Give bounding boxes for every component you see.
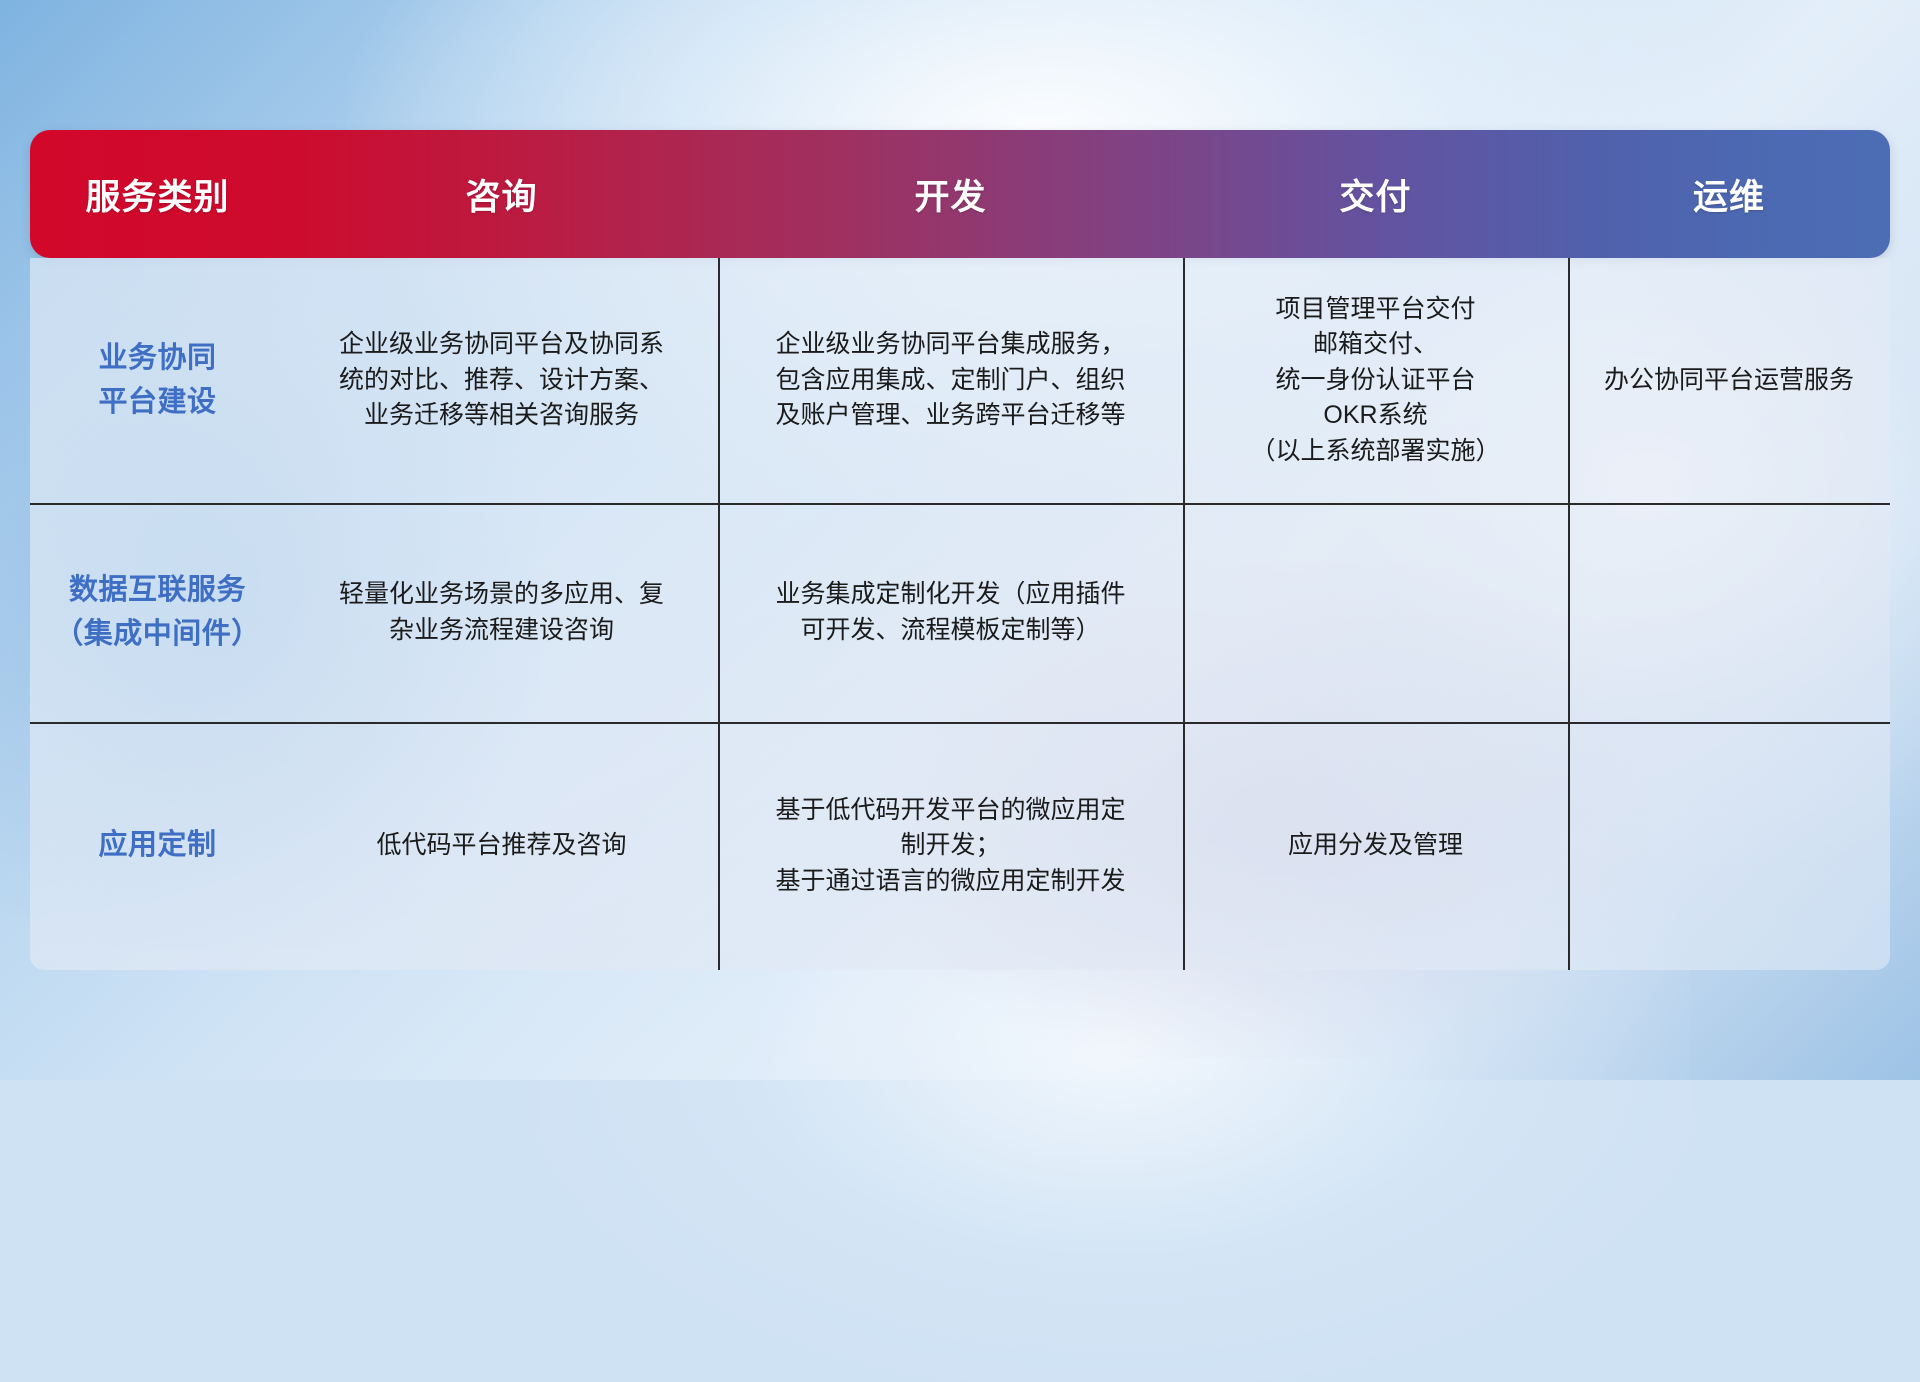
table-row: 数据互联服务 （集成中间件） 轻量化业务场景的多应用、复 杂业务流程建设咨询 业… xyxy=(30,503,1890,722)
cell-consulting: 企业级业务协同平台及协同系 统的对比、推荐、设计方案、 业务迁移等相关咨询服务 xyxy=(285,258,718,503)
service-matrix-table: 服务类别 咨询 开发 交付 运维 业务协同 平台建设 企业级业务协同平台及协同系… xyxy=(30,130,1890,970)
column-divider xyxy=(718,722,720,970)
column-header-consulting: 咨询 xyxy=(285,169,718,220)
column-divider xyxy=(1183,258,1185,503)
column-divider xyxy=(1183,722,1185,970)
column-divider xyxy=(718,503,720,722)
row-category-label: 数据互联服务 （集成中间件） xyxy=(30,503,285,722)
cell-delivery: 项目管理平台交付 邮箱交付、 统一身份认证平台 OKR系统 （以上系统部署实施） xyxy=(1183,258,1568,503)
cell-development: 基于低代码开发平台的微应用定 制开发； 基于通过语言的微应用定制开发 xyxy=(718,722,1183,970)
column-header-category: 服务类别 xyxy=(30,169,285,220)
column-header-operations: 运维 xyxy=(1568,169,1890,220)
table-row: 业务协同 平台建设 企业级业务协同平台及协同系 统的对比、推荐、设计方案、 业务… xyxy=(30,258,1890,503)
column-header-development: 开发 xyxy=(718,169,1183,220)
table-header-row: 服务类别 咨询 开发 交付 运维 xyxy=(30,130,1890,258)
cell-development: 企业级业务协同平台集成服务， 包含应用集成、定制门户、组织 及账户管理、业务跨平… xyxy=(718,258,1183,503)
table-body: 业务协同 平台建设 企业级业务协同平台及协同系 统的对比、推荐、设计方案、 业务… xyxy=(30,258,1890,970)
row-category-label: 业务协同 平台建设 xyxy=(30,258,285,503)
cell-consulting: 低代码平台推荐及咨询 xyxy=(285,722,718,970)
cell-delivery: 应用分发及管理 xyxy=(1183,722,1568,970)
column-divider xyxy=(1568,722,1570,970)
cell-consulting: 轻量化业务场景的多应用、复 杂业务流程建设咨询 xyxy=(285,503,718,722)
cell-operations xyxy=(1568,503,1890,722)
column-divider xyxy=(1568,258,1570,503)
cell-delivery xyxy=(1183,503,1568,722)
column-divider xyxy=(1568,503,1570,722)
column-divider xyxy=(718,258,720,503)
column-header-delivery: 交付 xyxy=(1183,169,1568,220)
column-divider xyxy=(1183,503,1185,722)
row-divider xyxy=(30,722,1890,724)
row-category-label: 应用定制 xyxy=(30,722,285,970)
row-divider xyxy=(30,503,1890,505)
cell-operations xyxy=(1568,722,1890,970)
cell-development: 业务集成定制化开发（应用插件 可开发、流程模板定制等） xyxy=(718,503,1183,722)
table-row: 应用定制 低代码平台推荐及咨询 基于低代码开发平台的微应用定 制开发； 基于通过… xyxy=(30,722,1890,970)
cell-operations: 办公协同平台运营服务 xyxy=(1568,258,1890,503)
